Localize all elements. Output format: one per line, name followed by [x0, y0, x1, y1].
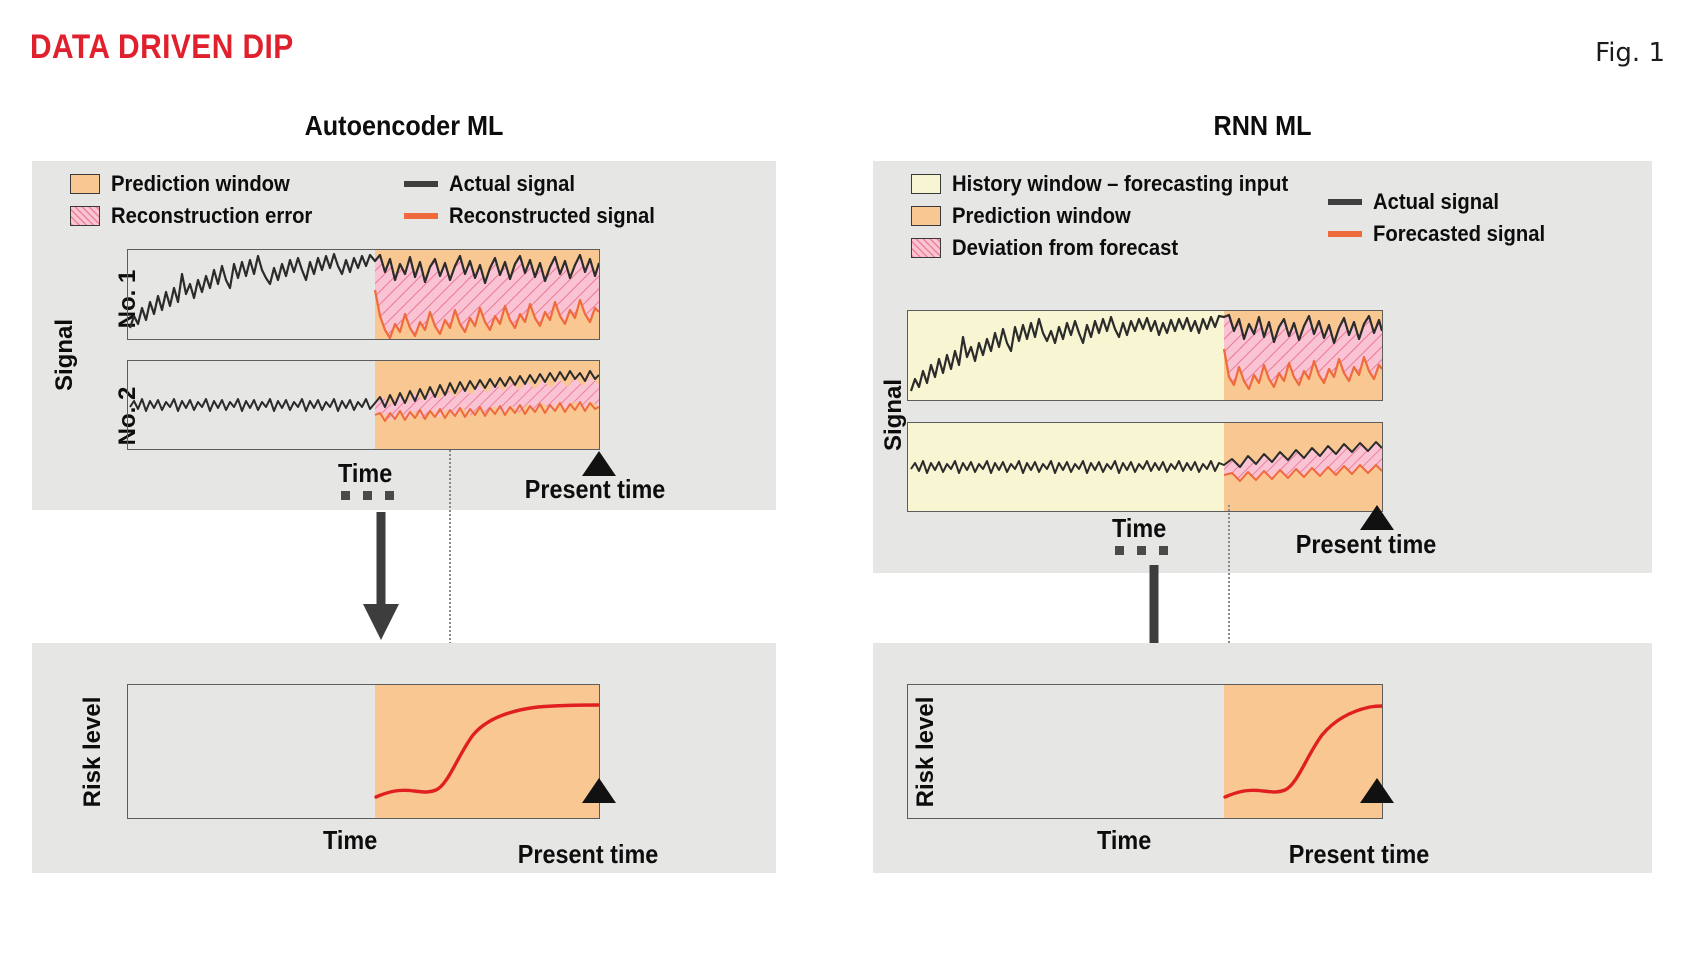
legend-label: Prediction window [111, 171, 290, 197]
signal-1-svg [128, 250, 600, 340]
brand-title: DATA DRIVEN DIP [30, 28, 294, 67]
orange-line-icon [404, 213, 438, 219]
autoencoder-signal-2-plot [127, 360, 600, 450]
rnn-legend: History window – forecasting input Predi… [911, 170, 1317, 266]
legend-item: Prediction window [70, 170, 330, 197]
panel-title-rnn: RNN ML [912, 110, 1613, 142]
time-label-autoencoder-signal: Time [338, 458, 392, 489]
legend-item: Reconstruction error [70, 202, 330, 229]
time-label-rnn-signal: Time [1112, 513, 1166, 544]
orange-square-icon [911, 206, 941, 226]
present-time-marker-autoencoder-risk [582, 778, 616, 803]
time-ellipsis-dots-rnn [1115, 546, 1168, 555]
flow-arrow-left [358, 512, 404, 642]
present-time-marker-rnn-signal [1360, 505, 1394, 530]
pink-hatched-square-icon [70, 206, 100, 226]
legend-label: Reconstructed signal [449, 203, 655, 229]
rnn-legend-right: Actual signal Forecasted signal [1328, 188, 1560, 252]
present-time-label-rnn-signal: Present time [1296, 529, 1436, 560]
signal-group-label: Signal [51, 310, 79, 400]
rnn-signal-1-svg [908, 311, 1383, 401]
time-ellipsis-dots [341, 491, 394, 500]
legend-item: Reconstructed signal [404, 202, 673, 229]
rnn-risk-panel: Risk level Time Present time [873, 643, 1652, 873]
present-time-label-autoencoder-risk: Present time [518, 839, 658, 870]
dark-line-icon [1328, 199, 1362, 205]
yellow-square-icon [911, 174, 941, 194]
legend-item: Actual signal [404, 170, 673, 197]
pink-hatched-square-icon [911, 238, 941, 258]
autoencoder-risk-plot [127, 684, 600, 819]
autoencoder-risk-panel: Risk level Time Present time [32, 643, 776, 873]
risk-svg [128, 685, 600, 819]
legend-label: Actual signal [1373, 189, 1499, 215]
legend-label: Prediction window [952, 203, 1131, 229]
orange-square-icon [70, 174, 100, 194]
legend-label: Actual signal [449, 171, 575, 197]
rnn-risk-plot [907, 684, 1383, 819]
panel-title-autoencoder: Autoencoder ML [69, 110, 739, 142]
signal-group-label-rnn: Signal [880, 370, 908, 460]
present-time-label-rnn-risk: Present time [1289, 839, 1429, 870]
autoencoder-legend-right: Actual signal Reconstructed signal [404, 170, 673, 234]
rnn-signal-panel: History window – forecasting input Predi… [873, 161, 1652, 573]
signal-2-svg [128, 361, 600, 450]
autoencoder-signal-panel: Prediction window Reconstruction error A… [32, 161, 776, 510]
figure-label: Fig. 1 [1595, 38, 1665, 68]
rnn-signal-2-plot [907, 422, 1383, 512]
autoencoder-legend: Prediction window Reconstruction error [70, 170, 330, 234]
time-label-autoencoder-risk: Time [323, 825, 377, 856]
present-time-label-autoencoder-signal: Present time [525, 474, 665, 505]
time-label-rnn-risk: Time [1097, 825, 1151, 856]
rnn-signal-2-svg [908, 423, 1383, 512]
legend-label: Reconstruction error [111, 203, 312, 229]
dark-line-icon [404, 181, 438, 187]
rnn-signal-1-plot [907, 310, 1383, 401]
legend-item: History window – forecasting input [911, 170, 1317, 197]
present-time-marker-rnn-risk [1360, 778, 1394, 803]
legend-item: Prediction window [911, 202, 1317, 229]
legend-item: Actual signal [1328, 188, 1560, 215]
legend-item: Forecasted signal [1328, 220, 1560, 247]
rnn-risk-svg [908, 685, 1383, 819]
legend-label: Forecasted signal [1373, 221, 1545, 247]
risk-level-label-left: Risk level [79, 692, 107, 812]
autoencoder-signal-1-plot [127, 249, 600, 340]
legend-label: Deviation from forecast [952, 235, 1178, 261]
legend-item: Deviation from forecast [911, 234, 1317, 261]
orange-line-icon [1328, 231, 1362, 237]
present-time-marker-autoencoder-signal [582, 451, 616, 476]
legend-label: History window – forecasting input [952, 171, 1288, 197]
